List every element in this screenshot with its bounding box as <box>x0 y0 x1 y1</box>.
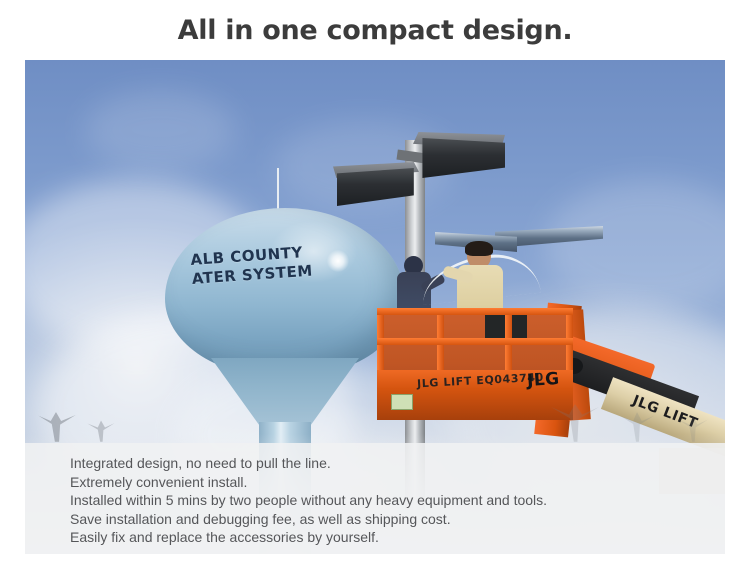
caption-line: Easily fix and replace the accessories b… <box>70 528 715 547</box>
page-title: All in one compact design. <box>178 15 573 46</box>
caption-text-block: Integrated design, no need to pull the l… <box>70 454 715 547</box>
product-photo: ALB COUNTY ATER SYSTEM <box>25 60 725 554</box>
caption-line: Extremely convenient install. <box>70 473 715 492</box>
caption-overlay-panel: Integrated design, no need to pull the l… <box>25 443 725 554</box>
cloud <box>85 90 235 170</box>
luminaire-right <box>419 138 505 178</box>
basket-rail-mid <box>377 338 573 345</box>
basket-id-plate <box>391 394 413 410</box>
tower-skirt <box>211 358 359 428</box>
basket-rail-top <box>377 308 573 315</box>
caption-line: Save installation and debugging fee, as … <box>70 510 715 529</box>
lift-basket: JLG LIFT EQ043740 JLG <box>377 308 573 420</box>
page-title-bar: All in one compact design. <box>0 0 750 60</box>
caption-line: Installed within 5 mins by two people wi… <box>70 491 715 510</box>
basket-brand-logo: JLG <box>526 369 560 391</box>
product-feature-page: All in one compact design. ALB COUNTY AT… <box>0 0 750 585</box>
worker-hair <box>465 241 493 256</box>
caption-line: Integrated design, no need to pull the l… <box>70 454 715 473</box>
